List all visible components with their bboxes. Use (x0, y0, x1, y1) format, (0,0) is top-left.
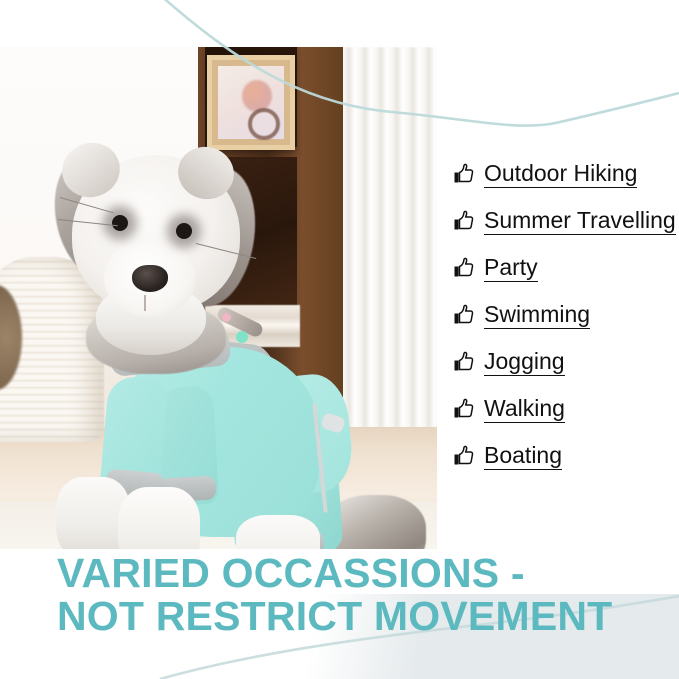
thumbs-up-icon (452, 444, 476, 468)
feature-label: Swimming (484, 301, 590, 329)
dog-paw-2 (118, 487, 200, 549)
feature-label: Summer Travelling (484, 207, 676, 235)
feature-item-boating[interactable]: Boating (452, 432, 679, 479)
headline-line-2: NOT RESTRICT MOVEMENT (57, 595, 657, 638)
feature-label: Outdoor Hiking (484, 160, 637, 188)
dog-nose (132, 265, 168, 292)
thumbs-up-icon (452, 303, 476, 327)
feature-label: Party (484, 254, 538, 282)
feature-label: Walking (484, 395, 565, 423)
dog-eye-right (176, 223, 192, 239)
feature-item-outdoor-hiking[interactable]: Outdoor Hiking (452, 150, 679, 197)
product-feature-banner: Outdoor Hiking Summer Travelling Party S… (0, 0, 679, 679)
feature-item-jogging[interactable]: Jogging (452, 338, 679, 385)
feature-label: Jogging (484, 348, 565, 376)
feature-list: Outdoor Hiking Summer Travelling Party S… (452, 150, 679, 479)
dog-paw-3 (236, 515, 320, 549)
feature-item-walking[interactable]: Walking (452, 385, 679, 432)
product-photo (0, 47, 437, 549)
dog-braid-tie-pink (222, 313, 231, 322)
feature-item-summer-travelling[interactable]: Summer Travelling (452, 197, 679, 244)
dog-eye-left (112, 215, 128, 231)
thumbs-up-icon (452, 209, 476, 233)
thumbs-up-icon (452, 162, 476, 186)
photo-dog (0, 47, 437, 549)
headline-line-1: VARIED OCCASSIONS - (57, 552, 657, 595)
thumbs-up-icon (452, 350, 476, 374)
dog-braid-tie-green (236, 331, 248, 343)
feature-label: Boating (484, 442, 562, 470)
headline: VARIED OCCASSIONS - NOT RESTRICT MOVEMEN… (57, 552, 657, 638)
dog-mouth (144, 295, 160, 311)
thumbs-up-icon (452, 256, 476, 280)
feature-item-swimming[interactable]: Swimming (452, 291, 679, 338)
thumbs-up-icon (452, 397, 476, 421)
feature-item-party[interactable]: Party (452, 244, 679, 291)
